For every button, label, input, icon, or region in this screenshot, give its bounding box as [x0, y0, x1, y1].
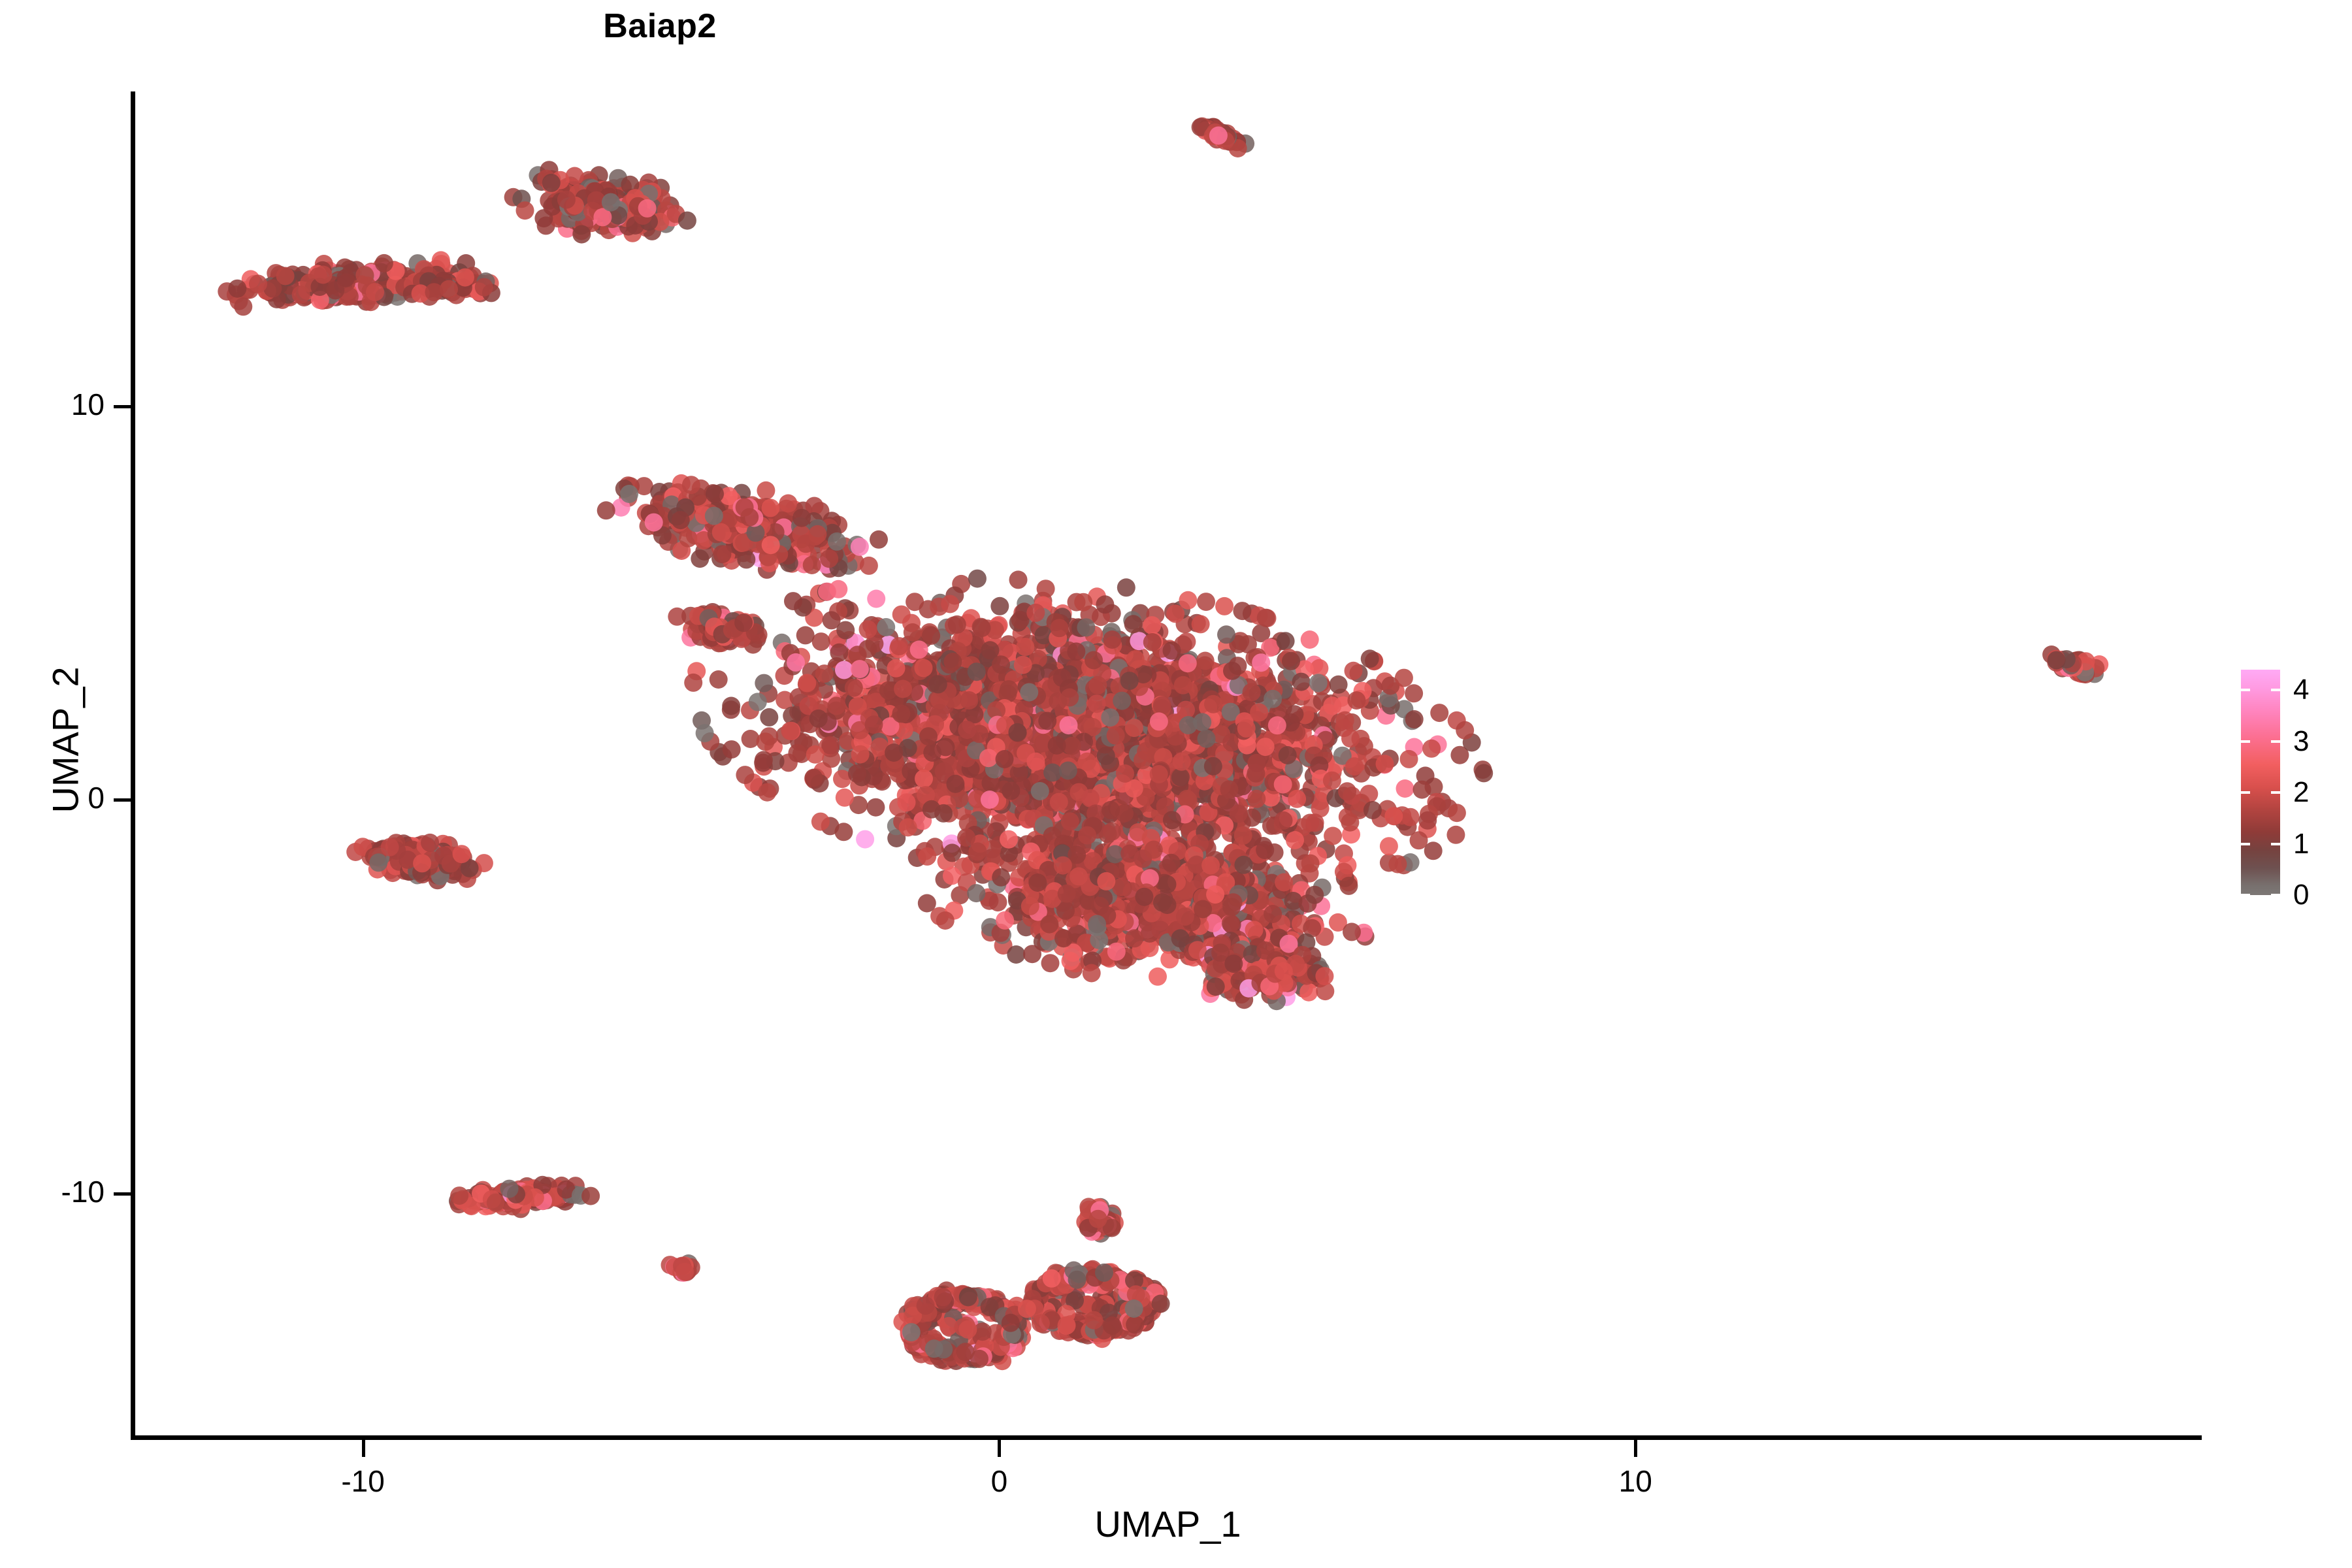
- y-axis-tick: [114, 798, 131, 802]
- colorbar-tick: [2241, 740, 2250, 743]
- colorbar-tick-label: 3: [2293, 727, 2309, 756]
- x-axis-tick-label: 10: [1570, 1463, 1701, 1499]
- colorbar-legend: 43210: [2241, 670, 2339, 895]
- x-axis-line: [131, 1435, 2202, 1440]
- colorbar-tick: [2241, 894, 2250, 896]
- x-axis-tick: [362, 1440, 365, 1457]
- x-axis-tick: [1634, 1440, 1637, 1457]
- x-axis-tick: [998, 1440, 1001, 1457]
- y-axis-title: UMAP_2: [44, 544, 87, 936]
- colorbar-tick: [2241, 843, 2250, 845]
- colorbar-tick-label: 2: [2293, 778, 2309, 807]
- plot-panel: [134, 91, 2202, 1437]
- colorbar-tick: [2271, 689, 2280, 691]
- colorbar-tick: [2271, 894, 2280, 896]
- y-axis-tick-label: -10: [0, 1174, 105, 1209]
- y-axis-tick: [114, 1192, 131, 1196]
- colorbar-tick-label: 0: [2293, 881, 2309, 909]
- colorbar-tick-label: 1: [2293, 830, 2309, 858]
- x-axis-tick-label: -10: [298, 1463, 429, 1499]
- page-title: Baiap2: [0, 7, 1836, 46]
- y-axis-line: [131, 91, 135, 1439]
- y-axis-tick: [114, 405, 131, 408]
- scatter-points-layer: [134, 91, 2202, 1437]
- colorbar-tick: [2241, 689, 2250, 691]
- colorbar-gradient: [2241, 670, 2280, 895]
- colorbar-tick: [2271, 843, 2280, 845]
- x-axis-tick-label: 0: [934, 1463, 1064, 1499]
- colorbar-tick: [2241, 791, 2250, 794]
- x-axis-title: UMAP_1: [134, 1503, 2202, 1545]
- figure-root: Baiap2 -10010-10010 UMAP_2 UMAP_1 43210: [0, 0, 2352, 1568]
- colorbar-tick: [2271, 740, 2280, 743]
- colorbar-tick: [2271, 791, 2280, 794]
- y-axis-tick-label: 10: [0, 387, 105, 422]
- colorbar-tick-label: 4: [2293, 676, 2309, 704]
